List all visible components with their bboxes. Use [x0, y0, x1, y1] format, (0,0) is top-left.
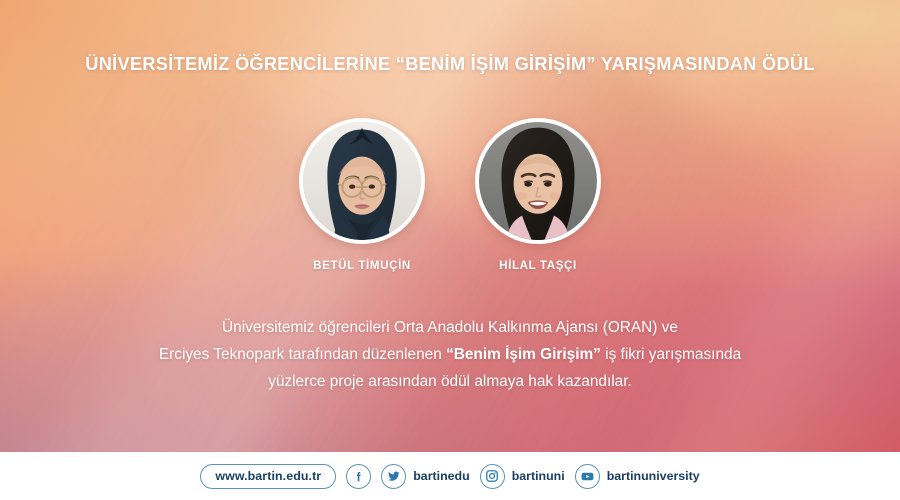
poster-headline: ÜNİVERSİTEMİZ ÖĞRENCİLERİNE “BENİM İŞİM …	[0, 54, 900, 76]
website-url-pill[interactable]: www.bartin.edu.tr	[200, 464, 336, 489]
body-line-1: Üniversitemiz öğrencileri Orta Anadolu K…	[0, 314, 900, 341]
social-link-twitter[interactable]: bartinedu	[381, 464, 469, 489]
avatar	[475, 118, 601, 244]
avatar	[299, 118, 425, 244]
social-link-facebook[interactable]	[346, 464, 371, 489]
instagram-icon[interactable]	[480, 464, 505, 489]
poster: ÜNİVERSİTEMİZ ÖĞRENCİLERİNE “BENİM İŞİM …	[0, 0, 900, 500]
body-line-2-part-c: iş fikri yarışmasında	[601, 346, 741, 363]
person-card: BETÜL TİMUÇİN	[297, 118, 427, 272]
social-link-instagram[interactable]: bartinuni	[480, 464, 565, 489]
footer-bar: www.bartin.edu.tr bartinedu	[0, 452, 900, 500]
body-line-3: yüzlerce proje arasından ödül almaya hak…	[0, 368, 900, 395]
person-name: BETÜL TİMUÇİN	[313, 259, 411, 272]
youtube-icon[interactable]	[575, 464, 600, 489]
person-name: HİLAL TAŞÇI	[499, 259, 577, 272]
body-line-2-emphasis: “Benim İşim Girişim”	[446, 346, 601, 363]
twitter-icon[interactable]	[381, 464, 406, 489]
poster-body-text: Üniversitemiz öğrencileri Orta Anadolu K…	[0, 314, 900, 395]
body-line-2: Erciyes Teknopark tarafından düzenlenen …	[0, 341, 900, 368]
facebook-icon[interactable]	[346, 464, 371, 489]
twitter-handle: bartinedu	[413, 469, 469, 483]
youtube-handle: bartinuniversity	[607, 469, 700, 483]
body-line-2-part-a: Erciyes Teknopark tarafından düzenlenen	[159, 346, 446, 363]
instagram-handle: bartinuni	[512, 469, 565, 483]
person-card: HİLAL TAŞÇI	[473, 118, 603, 272]
social-link-youtube[interactable]: bartinuniversity	[575, 464, 700, 489]
people-row: BETÜL TİMUÇİN	[0, 118, 900, 272]
